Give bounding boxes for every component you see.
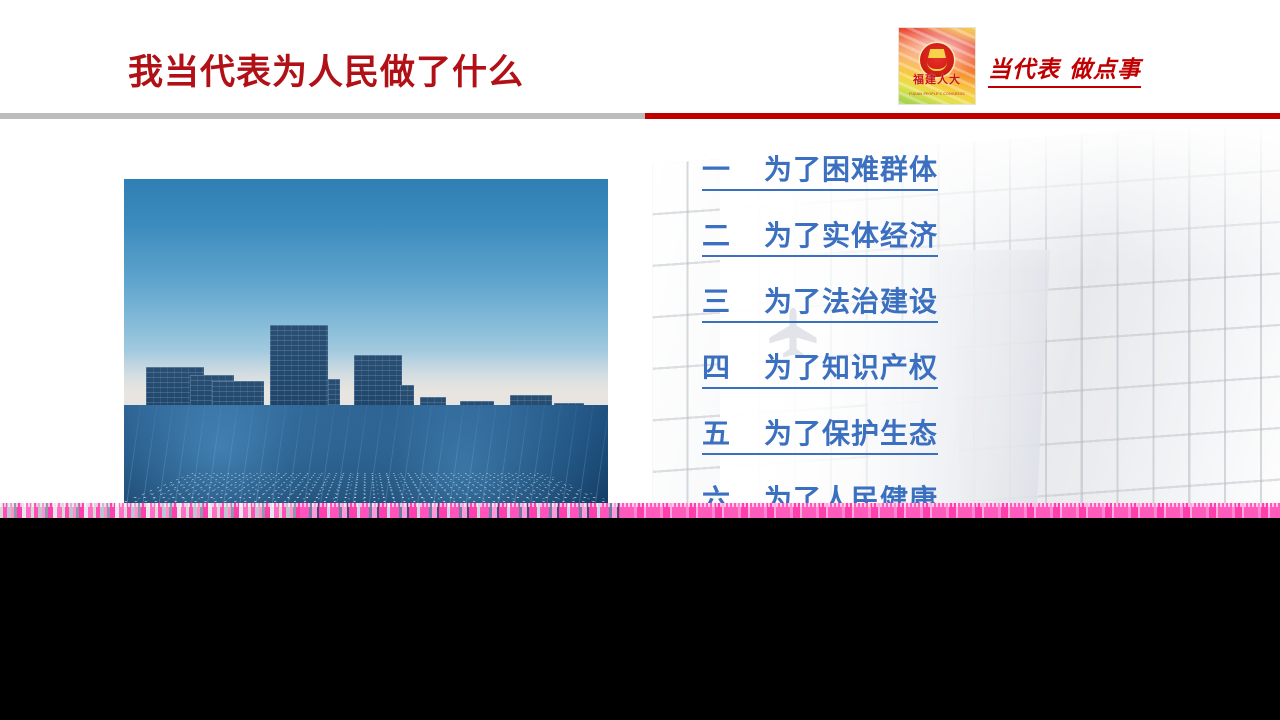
agenda-label[interactable]: 为了保护生态 [764,412,938,455]
agenda-number: 五 [702,412,764,455]
agenda-item-4[interactable]: 四 为了知识产权 [702,346,1032,412]
header-divider-gray [0,113,645,119]
agenda-label[interactable]: 为了实体经济 [764,214,938,257]
black-letterbox-area [0,518,1280,720]
agenda-number: 一 [702,148,764,191]
agenda-label[interactable]: 为了法治建设 [764,280,938,323]
agenda-item-5[interactable]: 五 为了保护生态 [702,412,1032,478]
glitch-dither-row [0,503,1280,507]
brand-slogan: 当代表 做点事 [988,50,1141,88]
agenda-item-2[interactable]: 二 为了实体经济 [702,214,1032,280]
header-divider-red [645,113,1280,119]
agenda-list: 一 为了困难群体 二 为了实体经济 三 为了法治建设 四 为了知识产权 五 为了… [702,148,1032,518]
agenda-item-3[interactable]: 三 为了法治建设 [702,280,1032,346]
logo-chinese-name: 福建人大 [899,71,975,87]
presentation-slide: 我当代表为人民做了什么 福建人大 FUJIAN PEOPLE'S CONGRES… [0,0,1280,518]
agenda-number: 三 [702,280,764,323]
digital-network-mesh [124,405,608,512]
smart-city-skyline-photo [124,179,608,512]
page-title: 我当代表为人民做了什么 [128,44,524,95]
fujian-renda-logo: 福建人大 FUJIAN PEOPLE'S CONGRESS [898,27,976,105]
agenda-label[interactable]: 为了知识产权 [764,346,938,389]
agenda-number: 四 [702,346,764,389]
logo-subtitle: FUJIAN PEOPLE'S CONGRESS [903,91,971,96]
render-glitch-strip [0,503,1280,518]
agenda-item-1[interactable]: 一 为了困难群体 [702,148,1032,214]
agenda-number: 二 [702,214,764,257]
agenda-label[interactable]: 为了困难群体 [764,148,938,191]
